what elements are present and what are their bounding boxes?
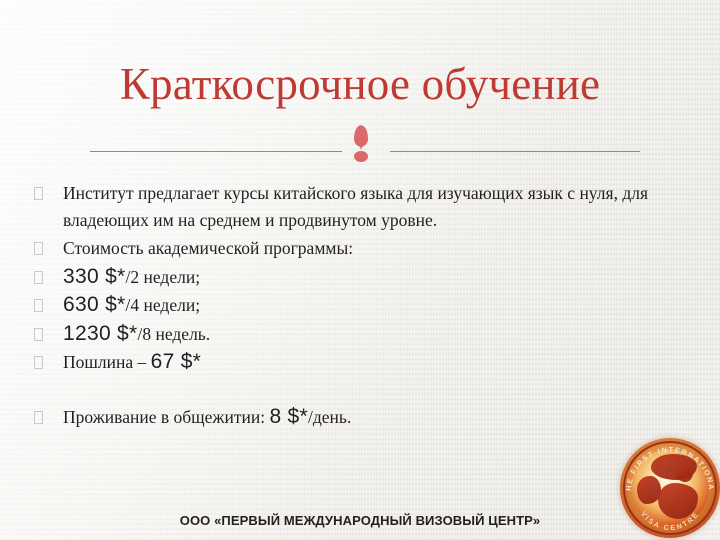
bullet-box-icon — [34, 328, 43, 341]
bullet-text-segment: Пошлина – — [63, 352, 151, 372]
bullet-box-icon — [34, 271, 43, 284]
bullet-text-segment: Проживание в общежитии: — [63, 407, 269, 427]
price-value: 67 $* — [151, 350, 202, 373]
decorative-divider — [0, 126, 720, 166]
first-international-visa-centre-logo: • THE FIRST INTERNATIONAL • VISA CENTRE — [620, 438, 720, 538]
bullet-text: Пошлина – 67 $* — [63, 349, 650, 376]
exclamation-stem — [354, 125, 368, 147]
bullet-box-icon — [34, 242, 43, 255]
bullet-item-duty-fee: Пошлина – 67 $* — [30, 349, 650, 376]
bullet-text: Институт предлагает курсы китайского язы… — [63, 180, 650, 233]
bullet-box-icon — [34, 299, 43, 312]
bullet-text-segment: /2 недели; — [126, 267, 201, 287]
price-value: 1230 $* — [63, 322, 138, 345]
divider-rule-left — [90, 151, 342, 152]
bullet-item-price-2-weeks: 330 $*/2 недели; — [30, 264, 650, 291]
globe-landmass — [676, 465, 693, 482]
globe-landmass — [658, 483, 699, 519]
bullet-text-segment: Институт предлагает курсы китайского язы… — [63, 183, 648, 230]
bullet-text-segment: /8 недель. — [138, 324, 211, 344]
bullet-text: 630 $*/4 недели; — [63, 292, 650, 319]
footer-company-name: ООО «ПЕРВЫЙ МЕЖДУНАРОДНЫЙ ВИЗОВЫЙ ЦЕНТР» — [0, 513, 720, 528]
price-value: 630 $* — [63, 293, 126, 316]
exclamation-mark-icon — [352, 126, 370, 166]
bullet-text-segment: /4 недели; — [126, 295, 201, 315]
bullet-box-icon — [34, 356, 43, 369]
bullet-text-segment: /день. — [308, 407, 351, 427]
exclamation-dot — [354, 151, 368, 162]
divider-rule-right — [390, 151, 640, 152]
bullet-text: 1230 $*/8 недель. — [63, 321, 650, 348]
price-value: 8 $* — [269, 405, 308, 428]
bullet-item-dormitory: Проживание в общежитии: 8 $*/день. — [30, 404, 650, 431]
bullet-item-intro: Институт предлагает курсы китайского язы… — [30, 180, 650, 233]
bullet-item-price-4-weeks: 630 $*/4 недели; — [30, 292, 650, 319]
bullet-text-segment: Стоимость академической программы: — [63, 238, 353, 258]
bullet-text: Проживание в общежитии: 8 $*/день. — [63, 404, 650, 431]
bullet-item-program-cost-heading: Стоимость академической программы: — [30, 235, 650, 262]
price-value: 330 $* — [63, 265, 126, 288]
bullet-list: Институт предлагает курсы китайского язы… — [30, 180, 650, 432]
bullet-text: 330 $*/2 недели; — [63, 264, 650, 291]
bullet-box-icon — [34, 187, 43, 200]
bullet-box-icon — [34, 411, 43, 424]
logo-outer-disc: • THE FIRST INTERNATIONAL • VISA CENTRE — [620, 438, 720, 538]
page-title: Краткосрочное обучение — [40, 58, 680, 110]
logo-globe — [631, 449, 709, 527]
slide-canvas: Краткосрочное обучение Институт предлага… — [0, 0, 720, 540]
bullet-text: Стоимость академической программы: — [63, 235, 650, 262]
bullet-item-price-8-weeks: 1230 $*/8 недель. — [30, 321, 650, 348]
